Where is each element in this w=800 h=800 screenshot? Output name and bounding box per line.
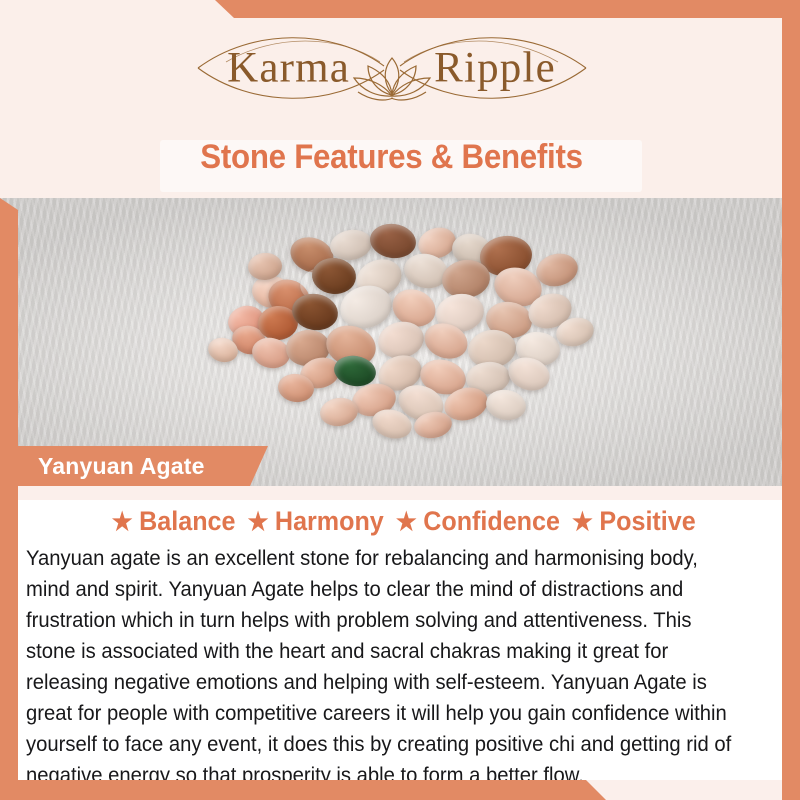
page-title: Stone Features & Benefits [31, 138, 751, 177]
benefit-keywords: ★Balance★Harmony★Confidence★Positive [45, 506, 756, 537]
brand-word-right: Ripple [434, 44, 556, 93]
stone-name-banner: Yanyuan Agate [18, 446, 268, 486]
brand-logo: Karma Ripple [162, 22, 622, 114]
content-section: ★Balance★Harmony★Confidence★Positive Yan… [18, 486, 783, 780]
star-icon: ★ [248, 507, 269, 537]
brand-word-left: Karma [227, 44, 350, 93]
benefit-keyword: Harmony [275, 506, 384, 537]
benefit-keyword: Positive [599, 506, 695, 537]
benefit-keyword: Balance [139, 506, 235, 537]
star-icon: ★ [396, 507, 417, 537]
infographic-page: Karma Ripple Stone Features & Benefits Y… [0, 0, 800, 800]
star-icon: ★ [572, 507, 593, 537]
star-icon: ★ [112, 507, 133, 537]
content-top-strip [18, 486, 783, 500]
stone-photo [0, 198, 783, 486]
header-section: Karma Ripple Stone Features & Benefits [0, 0, 783, 198]
frame-accent-left [0, 198, 18, 800]
benefit-keyword: Confidence [423, 506, 560, 537]
frame-accent-right [782, 0, 800, 800]
stone-name-label: Yanyuan Agate [38, 453, 205, 480]
description-text: Yanyuan agate is an excellent stone for … [26, 543, 744, 791]
brand-wordmark: Karma Ripple [162, 44, 622, 93]
